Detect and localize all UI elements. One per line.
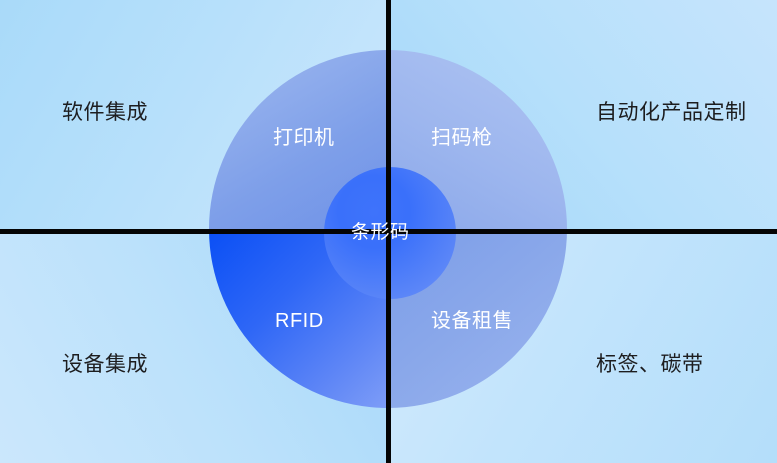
ring-label-printer: 打印机 [273, 128, 335, 148]
ring-label-scanner: 扫码枪 [431, 128, 493, 148]
ring-label-rental: 设备租售 [431, 311, 513, 331]
outer-label-software-integration: 软件集成 [62, 102, 148, 123]
outer-label-equipment-integration: 设备集成 [62, 354, 148, 375]
center-label-barcode: 条形码 [351, 223, 410, 242]
outer-label-automation-customization: 自动化产品定制 [596, 102, 747, 123]
diagram-canvas: 打印机 扫码枪 RFID 设备租售 条形码 软件集成 自动化产品定制 设备集成 … [0, 0, 777, 463]
outer-label-labels-ribbons: 标签、碳带 [596, 354, 704, 375]
ring-label-rfid: RFID [275, 311, 324, 331]
